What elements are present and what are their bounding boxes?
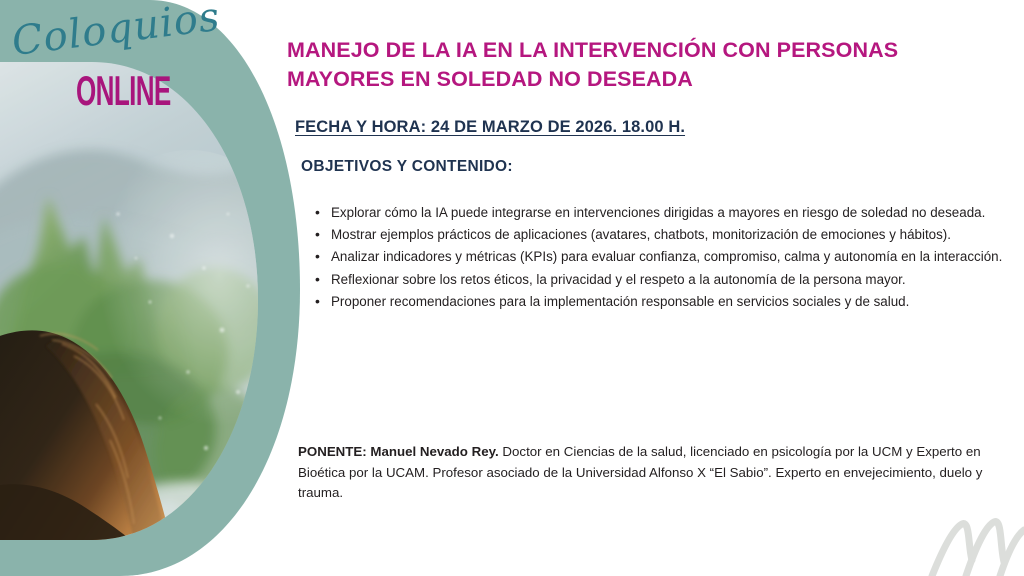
list-item: Reflexionar sobre los retos éticos, la p… bbox=[321, 270, 1005, 290]
coloquios-online-logo: Coloquios ONLINE bbox=[14, 22, 224, 112]
logo-online-text: ONLINE bbox=[76, 70, 171, 112]
list-item: Proponer recomendaciones para la impleme… bbox=[321, 292, 1005, 312]
date-time-line: FECHA Y HORA: 24 DE MARZO DE 2026. 18.00… bbox=[295, 118, 685, 137]
slide-canvas: Coloquios ONLINE MANEJO DE LA IA EN LA I… bbox=[0, 0, 1024, 576]
page-title: MANEJO DE LA IA EN LA INTERVENCIÓN CON P… bbox=[287, 36, 987, 94]
list-item: Explorar cómo la IA puede integrarse en … bbox=[321, 203, 1005, 223]
list-item: Mostrar ejemplos prácticos de aplicacion… bbox=[321, 225, 1005, 245]
content-column: MANEJO DE LA IA EN LA INTERVENCIÓN CON P… bbox=[287, 0, 992, 576]
speaker-bio: PONENTE: Manuel Nevado Rey. Doctor en Ci… bbox=[298, 442, 988, 504]
list-item: Analizar indicadores y métricas (KPIs) p… bbox=[321, 247, 1005, 267]
objectives-list: Explorar cómo la IA puede integrarse en … bbox=[304, 203, 1005, 314]
speaker-lead: PONENTE: Manuel Nevado Rey. bbox=[298, 444, 499, 459]
objectives-heading: OBJETIVOS Y CONTENIDO: bbox=[301, 158, 513, 176]
